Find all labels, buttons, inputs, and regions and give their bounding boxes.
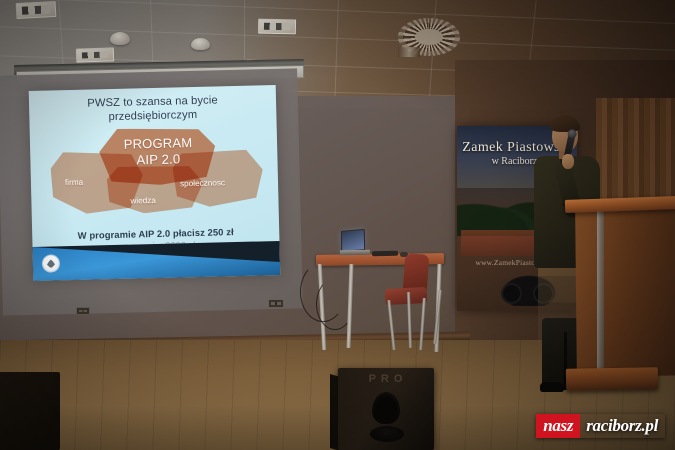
smoke-detector-icon (110, 32, 130, 45)
recessed-ceiling-light (76, 47, 114, 62)
laptop-screen (341, 229, 365, 252)
pa-speaker-brand-label: PRO (352, 373, 424, 385)
watermark-brand-rest: raciborz.pl (580, 414, 665, 438)
laptop-keyboard (340, 250, 370, 256)
pa-speaker-right: PRO (338, 368, 434, 450)
presentation-slide: PWSZ to szansa na bycie przedsiębiorczym… (29, 85, 281, 281)
lectern-base-platform (566, 367, 658, 391)
presenter-hair (550, 115, 580, 132)
wall-outlet (268, 299, 284, 308)
pa-speaker-left-body (0, 372, 60, 450)
presenter-hand (562, 154, 574, 169)
slide-diagram: PROGRAM AIP 2.0 firma społecznosc wiedza (50, 125, 264, 215)
chair-seat (385, 287, 428, 305)
photograph-scene: PWSZ to szansa na bycie przedsiębiorczym… (0, 0, 675, 450)
power-cable (316, 278, 354, 330)
recessed-ceiling-light (258, 19, 296, 35)
desk-equipment (372, 251, 398, 256)
watermark-logo: nasz raciborz.pl (536, 414, 665, 438)
institution-emblem-icon (43, 255, 59, 271)
pa-speaker-horn (372, 392, 400, 424)
pa-speaker-woofer (370, 426, 404, 442)
lectern-metal-trim (597, 208, 604, 372)
lectern-body (575, 207, 675, 376)
smoke-detector-icon (191, 38, 210, 50)
watermark-brand-red: nasz (536, 414, 580, 438)
recessed-ceiling-light (16, 1, 57, 19)
ceiling-vent-small (398, 47, 420, 57)
slide-title: PWSZ to szansa na bycie przedsiębiorczym (29, 92, 277, 126)
slide-footer-banner (33, 241, 281, 281)
wall-outlet (76, 307, 90, 315)
presenter-shoe (540, 382, 564, 392)
